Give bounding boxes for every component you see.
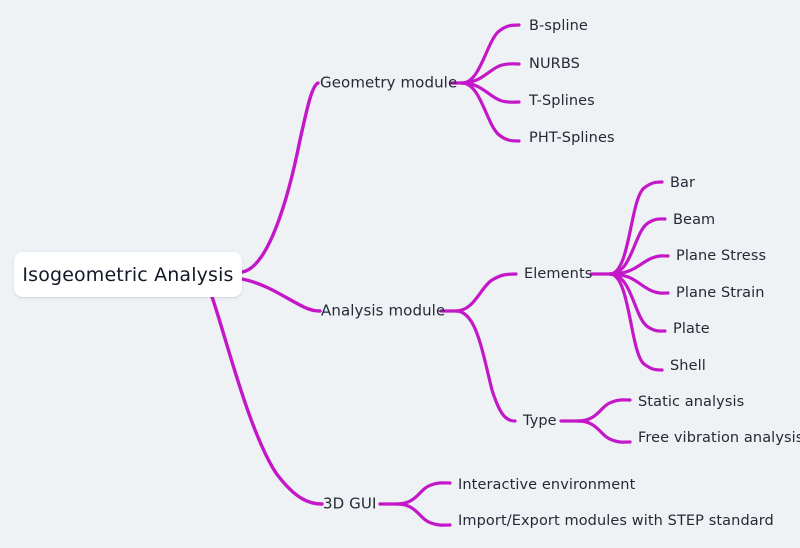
- node-static-analysis[interactable]: Static analysis: [638, 395, 744, 410]
- node-geometry-module[interactable]: Geometry module: [320, 76, 457, 91]
- link-analysis-type: [456, 311, 515, 421]
- link-root-analysis: [242, 279, 320, 311]
- link-3dgui-interactive: [397, 483, 450, 504]
- link-elements-shell: [610, 274, 662, 370]
- link-elements-plate: [610, 274, 665, 331]
- link-elements-beam: [610, 219, 665, 274]
- node-elements[interactable]: Elements: [524, 267, 592, 282]
- node-t-splines[interactable]: T-Splines: [529, 94, 595, 109]
- link-type-freevib: [578, 421, 630, 442]
- mindmap-canvas: Isogeometric Analysis Geometry module An…: [0, 0, 800, 548]
- link-geometry-phtsplines: [462, 83, 519, 141]
- node-import-export-step[interactable]: Import/Export modules with STEP standard: [458, 514, 774, 529]
- node-plane-strain[interactable]: Plane Strain: [676, 286, 765, 301]
- node-plane-stress[interactable]: Plane Stress: [676, 249, 766, 264]
- node-plate[interactable]: Plate: [673, 322, 710, 337]
- node-free-vibration-analysis[interactable]: Free vibration analysis: [638, 431, 800, 446]
- node-3d-gui[interactable]: 3D GUI: [323, 497, 377, 512]
- link-geometry-bspline: [462, 25, 519, 83]
- node-b-spline[interactable]: B-spline: [529, 19, 588, 34]
- link-elements-plane-strain: [610, 274, 668, 293]
- link-elements-bar: [610, 182, 662, 274]
- node-nurbs[interactable]: NURBS: [529, 57, 580, 72]
- link-root-geometry: [242, 83, 318, 272]
- node-shell[interactable]: Shell: [670, 359, 706, 374]
- link-type-static: [578, 400, 630, 421]
- node-bar[interactable]: Bar: [670, 176, 695, 191]
- link-geometry-tsplines: [462, 83, 519, 102]
- link-analysis-elements: [456, 274, 516, 311]
- link-geometry-nurbs: [462, 64, 519, 83]
- link-elements-plane-stress: [610, 256, 668, 274]
- node-type[interactable]: Type: [523, 414, 557, 429]
- root-node[interactable]: Isogeometric Analysis: [14, 252, 242, 297]
- link-3dgui-importexport: [397, 504, 450, 525]
- node-interactive-environment[interactable]: Interactive environment: [458, 478, 635, 493]
- node-pht-splines[interactable]: PHT-Splines: [529, 131, 615, 146]
- root-node-label: Isogeometric Analysis: [22, 264, 233, 286]
- node-beam[interactable]: Beam: [673, 213, 715, 228]
- node-analysis-module[interactable]: Analysis module: [321, 304, 445, 319]
- link-root-3dgui: [212, 297, 322, 504]
